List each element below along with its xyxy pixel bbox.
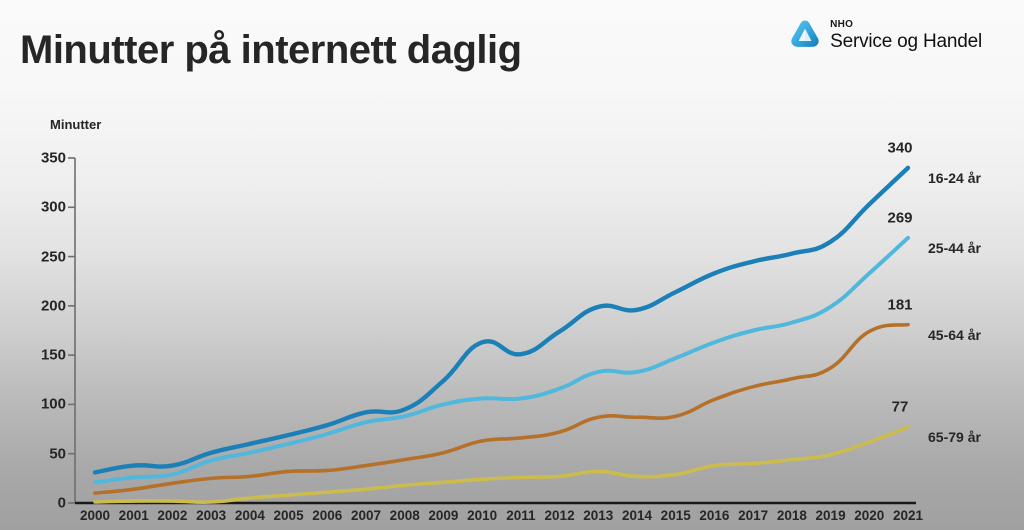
series-legend-label: 65-79 år: [928, 429, 981, 445]
series-end-value: 269: [887, 209, 912, 226]
series-end-value: 77: [892, 399, 909, 416]
series-legend-label: 45-64 år: [928, 327, 981, 343]
series-lines: [95, 168, 908, 502]
plot-area: [0, 0, 1024, 530]
line-chart: Minutter 050100150200250300350 200020012…: [0, 0, 1024, 530]
series-line: [95, 325, 908, 494]
axis-lines: [68, 158, 916, 503]
series-end-value: 181: [887, 296, 912, 313]
series-line: [95, 168, 908, 473]
chart-page: Minutter på internett daglig NHO Service…: [0, 0, 1024, 530]
series-legend-label: 25-44 år: [928, 240, 981, 256]
series-line: [95, 238, 908, 482]
series-legend-label: 16-24 år: [928, 170, 981, 186]
series-end-value: 340: [887, 139, 912, 156]
